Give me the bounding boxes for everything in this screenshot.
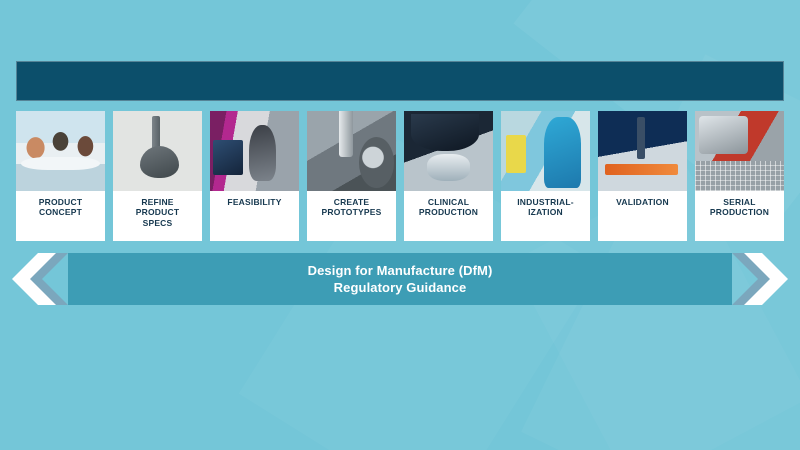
- process-step-label: CREATEPROTOTYPES: [307, 191, 396, 241]
- process-step-card[interactable]: REFINEPRODUCTSPECS: [113, 111, 202, 241]
- process-step-label: CLINICALPRODUCTION: [404, 191, 493, 241]
- banner-line-1: Design for Manufacture (DfM): [308, 262, 493, 279]
- inspection-machine-photo: [598, 111, 687, 191]
- banner-row: Design for Manufacture (DfM) Regulatory …: [16, 253, 784, 305]
- process-step-label: REFINEPRODUCTSPECS: [113, 191, 202, 241]
- lab-equipment-photo: [404, 111, 493, 191]
- banner-line-2: Regulatory Guidance: [334, 279, 467, 296]
- chevron-left-icon: [12, 253, 68, 305]
- process-step-image: [695, 111, 784, 191]
- cnc-machining-photo: [307, 111, 396, 191]
- process-step-image: [307, 111, 396, 191]
- process-step-label: INDUSTRIAL-IZATION: [501, 191, 590, 241]
- process-step-image: [210, 111, 299, 191]
- process-step-strip: PRODUCTCONCEPTREFINEPRODUCTSPECSFEASIBIL…: [16, 111, 784, 241]
- banner-body: Design for Manufacture (DfM) Regulatory …: [68, 253, 732, 305]
- process-step-label: PRODUCTCONCEPT: [16, 191, 105, 241]
- process-step-card[interactable]: INDUSTRIAL-IZATION: [501, 111, 590, 241]
- process-step-label: SERIALPRODUCTION: [695, 191, 784, 241]
- process-step-image: [501, 111, 590, 191]
- process-step-card[interactable]: CREATEPROTOTYPES: [307, 111, 396, 241]
- process-step-card[interactable]: FEASIBILITY: [210, 111, 299, 241]
- engineers-at-computer-photo: [210, 111, 299, 191]
- process-step-card[interactable]: VALIDATION: [598, 111, 687, 241]
- chevron-right-icon: [732, 253, 788, 305]
- process-step-card[interactable]: SERIALPRODUCTION: [695, 111, 784, 241]
- process-step-image: [113, 111, 202, 191]
- process-step-image: [404, 111, 493, 191]
- robotic-assembly-photo: [695, 111, 784, 191]
- process-step-label: VALIDATION: [598, 191, 687, 241]
- cleanroom-worker-photo: [501, 111, 590, 191]
- process-step-image: [16, 111, 105, 191]
- process-step-card[interactable]: PRODUCTCONCEPT: [16, 111, 105, 241]
- process-step-image: [598, 111, 687, 191]
- process-step-label: FEASIBILITY: [210, 191, 299, 241]
- team-meeting-photo: [16, 111, 105, 191]
- header-bar: [16, 61, 784, 101]
- process-step-card[interactable]: CLINICALPRODUCTION: [404, 111, 493, 241]
- product-prototype-photo: [113, 111, 202, 191]
